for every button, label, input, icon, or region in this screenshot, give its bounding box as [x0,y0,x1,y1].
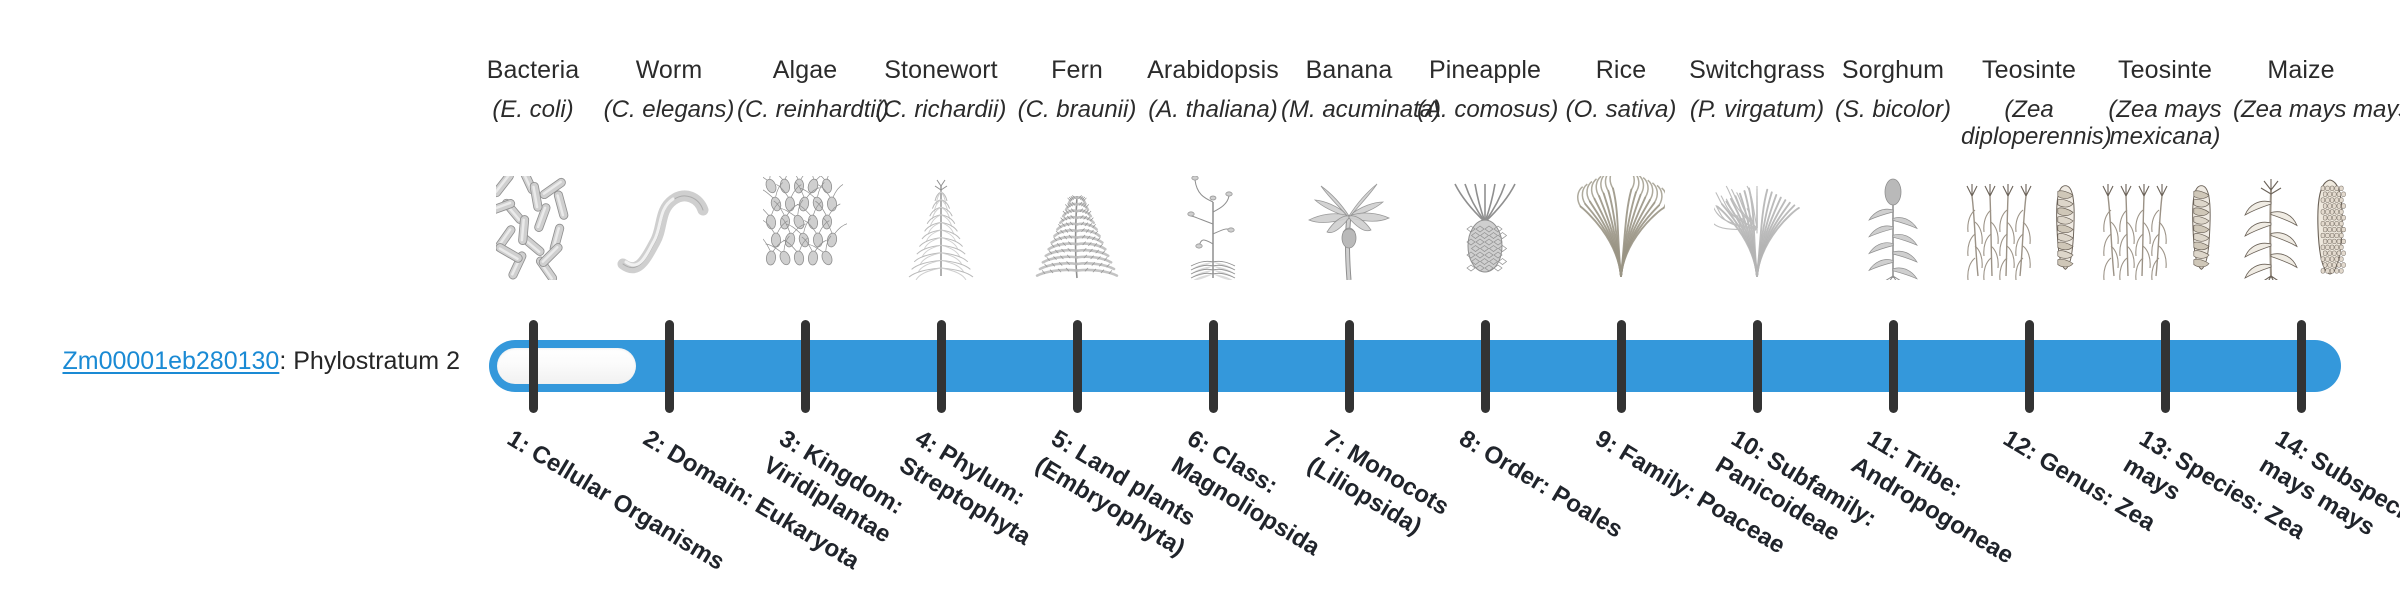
species-column-10: Switchgrass(P. virgatum) [1689,56,1825,124]
stratum-tick-10[interactable] [1753,320,1762,413]
phylostratum-slider-track[interactable] [489,340,2341,392]
species-column-11: Sorghum(S. bicolor) [1825,56,1961,124]
species-column-12: Teosinte(Zea diploperennis) [1961,56,2097,151]
stratum-tick-14[interactable] [2297,320,2306,413]
stratum-tick-11[interactable] [1889,320,1898,413]
species-scientific-name: (C. richardii) [873,97,1009,124]
species-scientific-name: (Zea mays mays) [2233,97,2369,124]
gene-label-separator: : [279,347,293,375]
stratum-tick-7[interactable] [1345,320,1354,413]
species-common-name: Stonewort [873,56,1009,85]
species-scientific-name: (P. virgatum) [1689,97,1825,124]
species-scientific-name: (M. acuminata) [1281,97,1417,124]
stratum-tick-8[interactable] [1481,320,1490,413]
species-column-7: Banana(M. acuminata) [1281,56,1417,124]
phylostratum-timeline: Zm00001eb280130: Phylostratum 2 Bacteria… [0,0,2400,580]
gene-id-link[interactable]: Zm00001eb280130 [62,347,279,375]
species-scientific-name: (S. bicolor) [1825,97,1961,124]
gene-phylostratum-label: Zm00001eb280130: Phylostratum 2 [40,346,460,376]
species-column-9: Rice(O. sativa) [1553,56,1689,124]
bacteria-icon [465,172,601,280]
arabidopsis-icon [1145,172,1281,280]
stratum-tick-2[interactable] [665,320,674,413]
species-column-3: Algae(C. reinhardtii) [737,56,873,124]
algae-icon [737,172,873,280]
species-common-name: Banana [1281,56,1417,85]
species-scientific-name: (C. reinhardtii) [737,97,873,124]
stonewort-icon [873,172,1009,280]
stratum-tick-1[interactable] [529,320,538,413]
stratum-tick-3[interactable] [801,320,810,413]
stratum-tick-5[interactable] [1073,320,1082,413]
species-scientific-name: (C. elegans) [601,97,737,124]
stratum-tick-9[interactable] [1617,320,1626,413]
switchgrass-icon [1689,172,1825,280]
species-column-8: Pineapple(A. comosus) [1417,56,1553,124]
species-common-name: Arabidopsis [1145,56,1281,85]
species-column-2: Worm(C. elegans) [601,56,737,124]
species-common-name: Fern [1009,56,1145,85]
species-common-name: Bacteria [465,56,601,85]
species-scientific-name: (C. braunii) [1009,97,1145,124]
species-common-name: Sorghum [1825,56,1961,85]
rice-icon [1553,172,1689,280]
species-common-name: Teosinte [1961,56,2097,85]
species-scientific-name: (O. sativa) [1553,97,1689,124]
slider-unfilled-region [497,348,636,384]
species-column-4: Stonewort(C. richardii) [873,56,1009,124]
species-common-name: Teosinte [2097,56,2233,85]
maize-icon [2233,172,2369,280]
species-column-6: Arabidopsis(A. thaliana) [1145,56,1281,124]
stratum-tick-4[interactable] [937,320,946,413]
pineapple-icon [1417,172,1553,280]
species-column-13: Teosinte(Zea mays mexicana) [2097,56,2233,151]
sorghum-icon [1825,172,1961,280]
teosinte-icon [1961,172,2097,280]
stratum-tick-6[interactable] [1209,320,1218,413]
species-common-name: Rice [1553,56,1689,85]
species-common-name: Algae [737,56,873,85]
phylostratum-value-text: Phylostratum 2 [293,347,460,375]
species-scientific-name: (Zea diploperennis) [1961,97,2097,151]
teosinte-icon [2097,172,2233,280]
stratum-tick-13[interactable] [2161,320,2170,413]
species-column-5: Fern(C. braunii) [1009,56,1145,124]
species-common-name: Worm [601,56,737,85]
banana-icon [1281,172,1417,280]
stratum-tick-12[interactable] [2025,320,2034,413]
fern-icon [1009,172,1145,280]
species-column-14: Maize(Zea mays mays) [2233,56,2369,124]
species-scientific-name: (E. coli) [465,97,601,124]
species-common-name: Pineapple [1417,56,1553,85]
species-common-name: Maize [2233,56,2369,85]
species-scientific-name: (A. thaliana) [1145,97,1281,124]
species-column-1: Bacteria(E. coli) [465,56,601,124]
species-scientific-name: (A. comosus) [1417,97,1553,124]
species-scientific-name: (Zea mays mexicana) [2097,97,2233,151]
species-common-name: Switchgrass [1689,56,1825,85]
taxonomy-rank-1: 1: Cellular Organisms [501,424,731,579]
nematode-icon [601,172,737,280]
